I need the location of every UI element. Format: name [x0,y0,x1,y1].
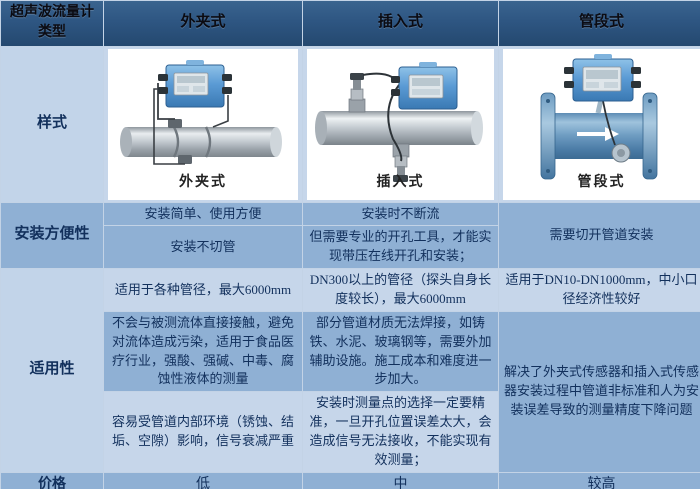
figure-frame-inline: 管段式 [503,49,700,200]
cell-applicability-insertion-2: 部分管道材质无法焊接，如铸铁、水泥、玻璃钢等，需要外加辅助设施。施工成本和难度进… [303,312,498,391]
cell-applicability-inline-2: 解决了外夹式传感器和插入式传感器安装过程中管道非标准和人为安装误差导致的测量精度… [499,312,700,472]
header-col-insertion: 插入式 [303,1,498,46]
figure-frame-clamp-on: 外夹式 [108,49,298,200]
row-label-installation-convenience: 安装方便性 [1,203,103,269]
row-label-price: 价格 [1,473,103,489]
figure-caption-inline: 管段式 [503,173,700,193]
header-corner-line1: 超声波流量计 [5,3,99,23]
table-row-applicability-b: 不会与被测流体直接接触，避免对流体造成污染，适用于食品医疗行业，强酸、强碱、中毒… [1,312,700,391]
inline-spool-flowmeter-illustration [503,49,696,192]
figure-caption-insertion: 插入式 [307,173,494,193]
cell-price-inline: 较高 [499,473,700,489]
figure-cell-insertion: 插入式 [303,47,498,202]
ultrasonic-flowmeter-comparison-table: 超声波流量计 类型 外夹式 插入式 管段式 样式 [0,0,700,489]
insertion-flowmeter-illustration [307,49,490,192]
cell-install-clamp-on-2: 安装不切管 [104,226,302,268]
table-row-applicability-a: 适用性 适用于各种管径，最大6000mm DN300以上的管径（探头自身长度较长… [1,269,700,311]
row-label-applicability: 适用性 [1,269,103,471]
table-row-installation-convenience-a: 安装方便性 安装简单、使用方便 安装时不断流 需要切开管道安装 [1,203,700,226]
header-col-clamp-on: 外夹式 [104,1,302,46]
figure-cell-clamp-on: 外夹式 [104,47,302,202]
table-row-price: 价格 低 中 较高 [1,473,700,489]
header-col-inline: 管段式 [499,1,700,46]
header-corner-line2: 类型 [5,23,99,43]
cell-install-inline: 需要切开管道安装 [499,203,700,269]
cell-install-insertion-1: 安装时不断流 [303,203,498,226]
header-corner-cell: 超声波流量计 类型 [1,1,103,46]
row-label-style: 样式 [1,47,103,202]
figure-cell-inline: 管段式 [499,47,700,202]
figure-frame-insertion: 插入式 [307,49,494,200]
cell-applicability-insertion-1: DN300以上的管径（探头自身长度较长），最大6000mm [303,269,498,311]
table-header-row: 超声波流量计 类型 外夹式 插入式 管段式 [1,1,700,46]
figure-caption-clamp-on: 外夹式 [108,173,298,193]
cell-applicability-clamp-on-1: 适用于各种管径，最大6000mm [104,269,302,311]
table-row-style: 样式 [1,47,700,202]
clamp-on-flowmeter-illustration [108,49,294,192]
cell-applicability-insertion-3: 安装时测量点的选择一定要精准，一旦开孔位置误差太大，会造成信号无法接收，不能实现… [303,392,498,471]
cell-price-insertion: 中 [303,473,498,489]
cell-applicability-inline-1: 适用于DN10-DN1000mm，中小口径经济性较好 [499,269,700,311]
cell-price-clamp-on: 低 [104,473,302,489]
comparison-table-page: 超声波流量计 类型 外夹式 插入式 管段式 样式 [0,0,700,489]
cell-applicability-clamp-on-2: 不会与被测流体直接接触，避免对流体造成污染，适用于食品医疗行业，强酸、强碱、中毒… [104,312,302,391]
cell-install-insertion-2: 但需要专业的开孔工具，才能实现带压在线开孔和安装； [303,226,498,268]
cell-applicability-clamp-on-3: 容易受管道内部环境（锈蚀、结垢、空隙）影响，信号衰减严重 [104,392,302,471]
cell-install-clamp-on-1: 安装简单、使用方便 [104,203,302,226]
